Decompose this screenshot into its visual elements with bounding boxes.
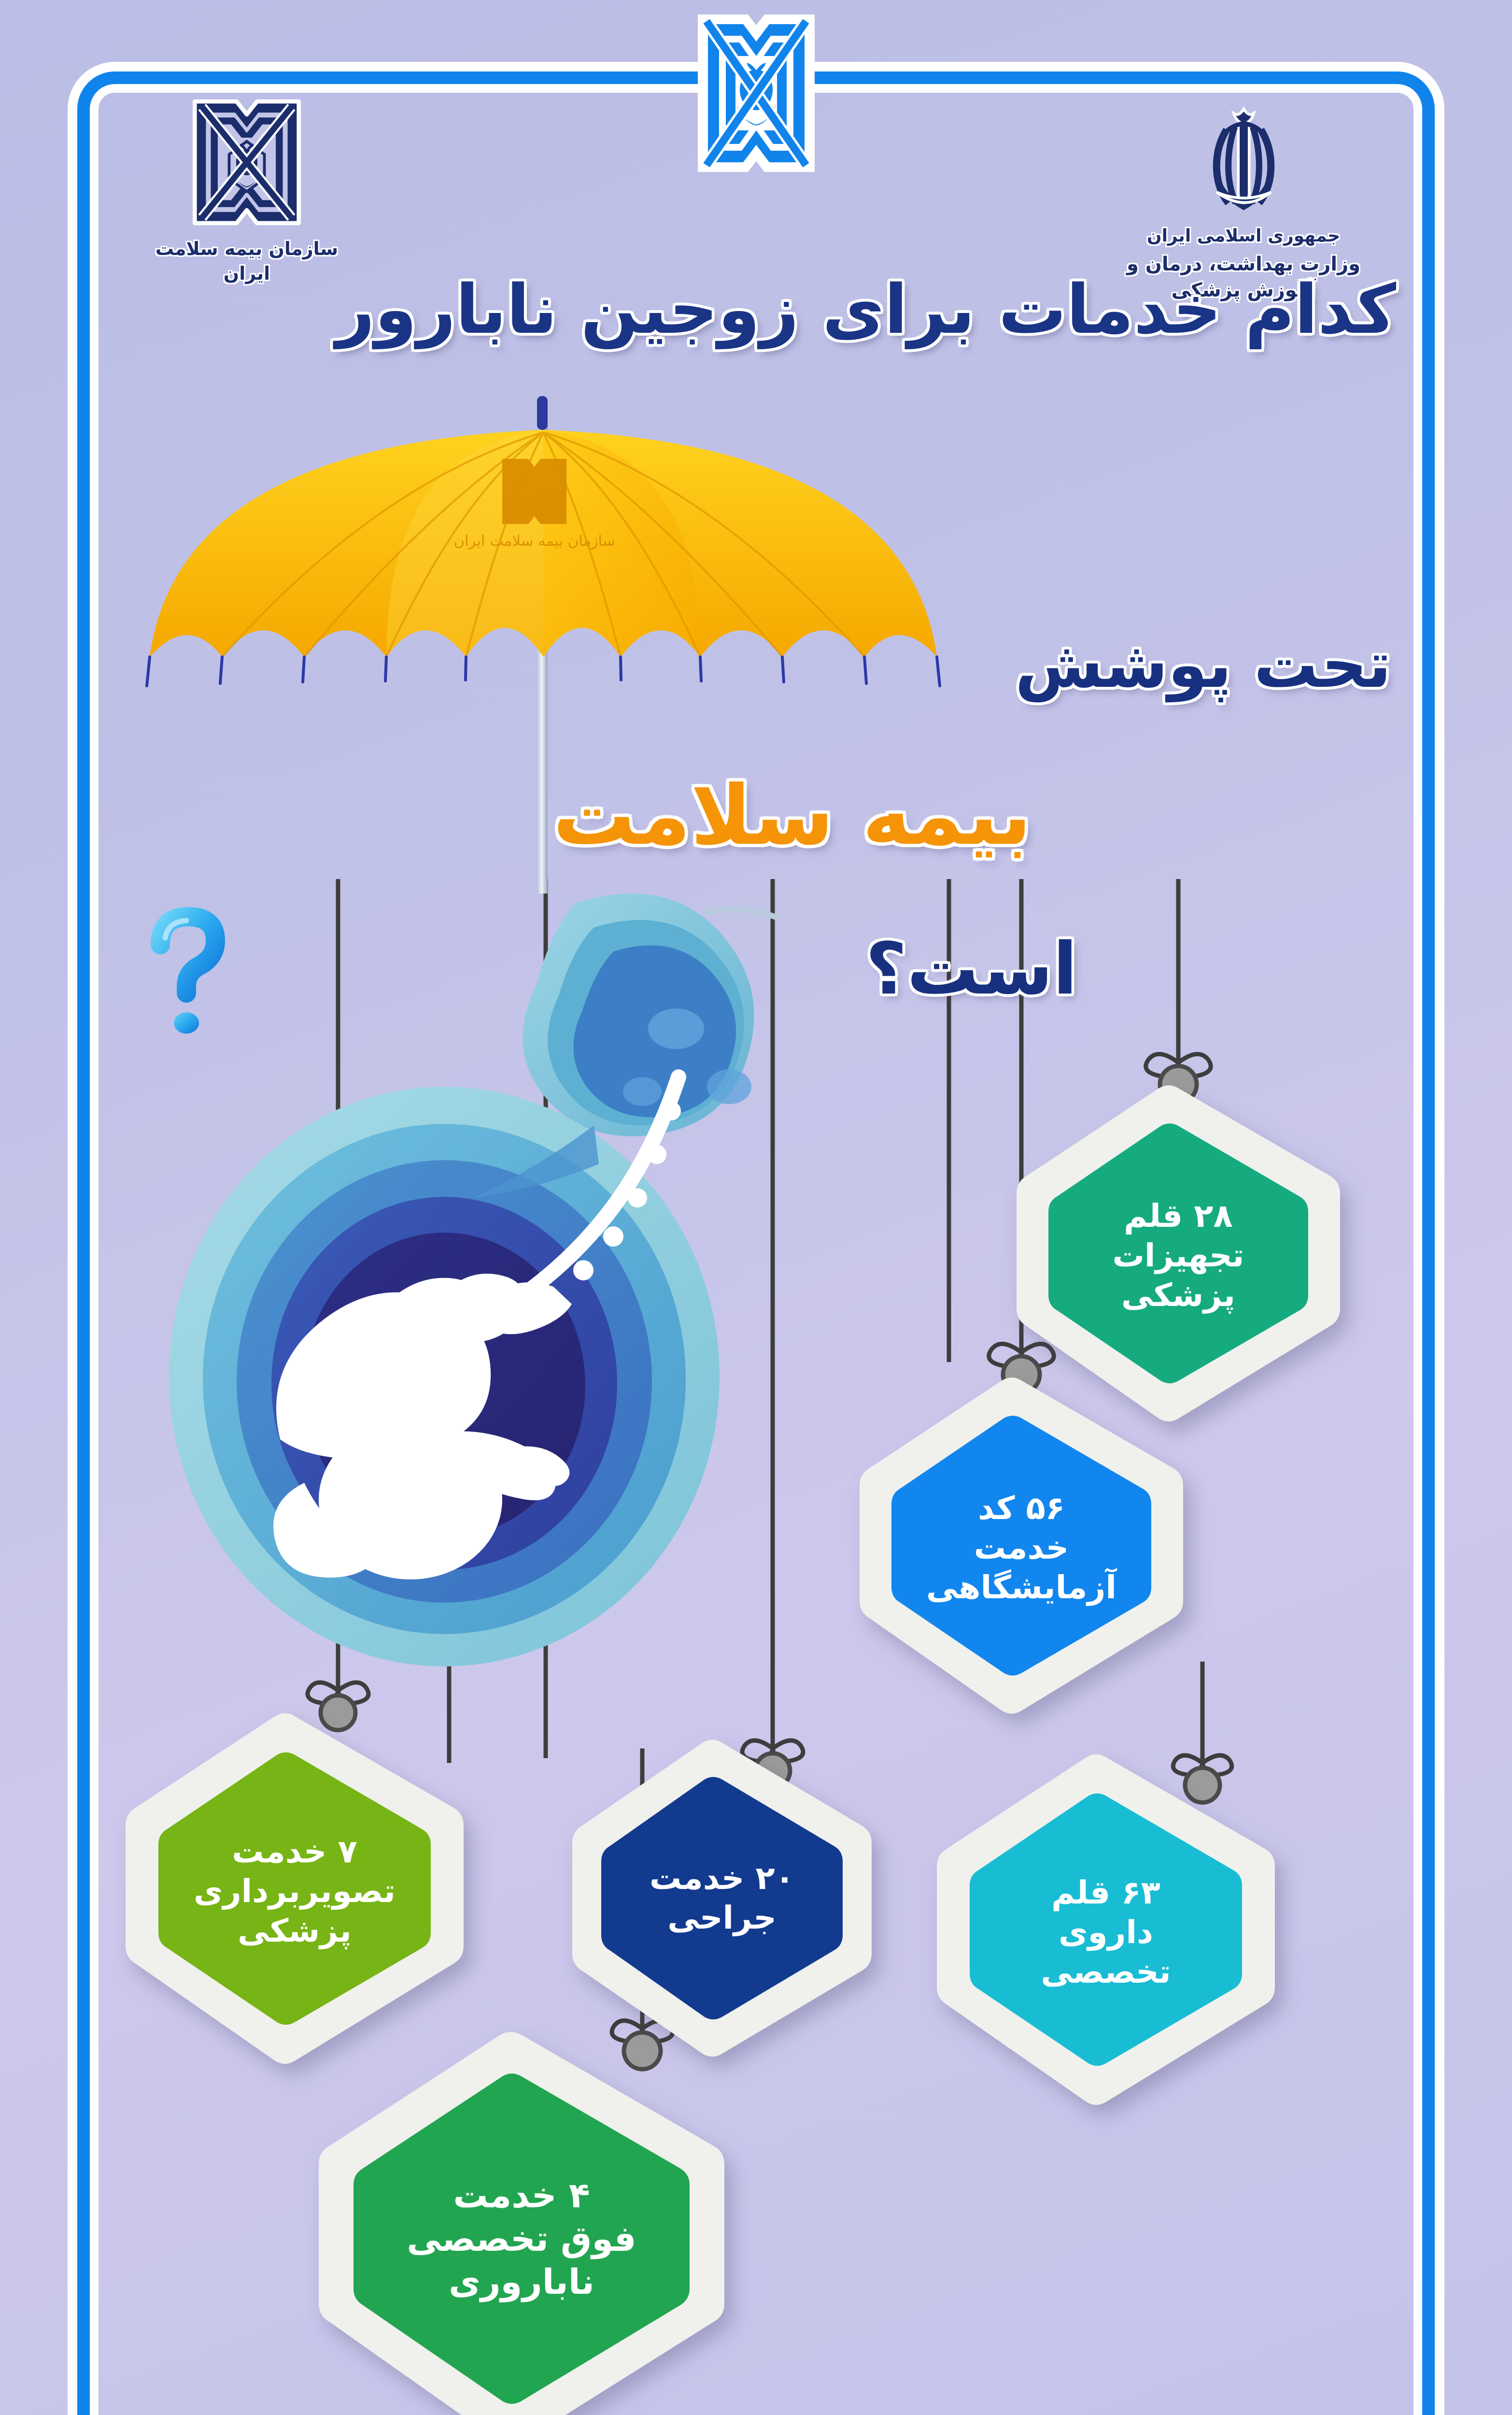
- badge-specialty-drugs[interactable]: ۶۳ قلم داروی تخصصی: [937, 1753, 1275, 2106]
- badge-medical-equipment[interactable]: ۲۸ قلم تجهیزات پزشکی: [1017, 1084, 1340, 1422]
- badge-infertility-subspecialty[interactable]: ۴ خدمت فوق تخصصی ناباروری: [319, 2031, 724, 2415]
- badge-surgery[interactable]: ۲۰ خدمت جراحی: [572, 1739, 872, 2058]
- svg-text:سازمان بیمه سلامت ایران: سازمان بیمه سلامت ایران: [454, 533, 615, 550]
- subtitle-line-3: است؟: [865, 927, 1077, 1010]
- badge-medical-imaging[interactable]: ۷ خدمت تصویربرداری پزشکی: [126, 1712, 464, 2065]
- subtitle-line-2: بیمه سلامت: [159, 768, 1425, 864]
- subtitle-line-1: تحت پوشش: [1015, 628, 1391, 702]
- health-insurance-emblem-icon: [186, 95, 307, 230]
- fetus-in-womb-papercut-icon: [159, 884, 835, 1715]
- left-logo-block: سازمان بیمه سلامت ایران: [133, 95, 360, 286]
- right-logo-caption-line1: جمهوری اسلامی ایران: [1108, 225, 1379, 248]
- top-logo: [681, 9, 831, 178]
- page-title: کدام خدمات برای زوجین نابارور: [101, 270, 1411, 349]
- question-mark-3d-icon: [140, 903, 241, 1043]
- iran-emblem-icon: [1189, 99, 1298, 218]
- badge-lab-services[interactable]: ۵۶ کد خدمت آزمایشگاهی: [860, 1377, 1183, 1715]
- health-insurance-emblem-icon: [681, 9, 831, 178]
